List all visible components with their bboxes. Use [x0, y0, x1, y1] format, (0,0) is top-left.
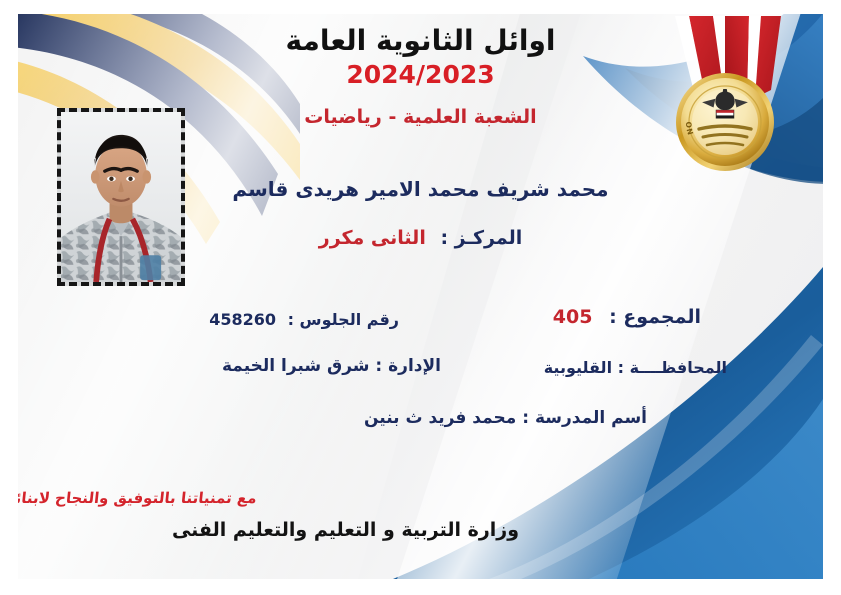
school-label: أسم المدرسة : [522, 408, 647, 428]
school-value: محمد فريد ث بنين [364, 408, 516, 428]
seat-number-row: رقم الجلوس : 458260 [209, 310, 399, 329]
governorate-row: المحافظــــة : القليوبية [544, 358, 727, 377]
ministry-name: وزارة التربية و التعليم والتعليم الفنى [18, 519, 823, 541]
page-title: اوائل الثانوية العامة [18, 24, 823, 57]
certificate-root: MINISTRY OF EDUCATION AND TECHNICAL EDUC… [0, 0, 841, 595]
seat-number-label: رقم الجلوس : [288, 310, 399, 329]
rank-value: الثانى مكرر [319, 227, 426, 249]
student-name: محمد شريف محمد الامير هريدى قاسم [18, 177, 823, 201]
branch-label: الشعبة العلمية - رياضيات [18, 106, 823, 128]
total-value: 405 [553, 306, 593, 328]
administration-label: الإدارة : [375, 356, 441, 376]
rank-row: المركـز : الثانى مكرر [18, 227, 823, 249]
governorate-label: المحافظــــة : [618, 358, 727, 377]
seat-number-value: 458260 [209, 310, 276, 329]
certificate-card: MINISTRY OF EDUCATION AND TECHNICAL EDUC… [18, 14, 823, 579]
administration-row: الإدارة : شرق شبرا الخيمة [222, 356, 441, 376]
rank-label: المركـز : [440, 227, 522, 249]
school-row: أسم المدرسة : محمد فريد ث بنين [364, 408, 647, 428]
administration-value: شرق شبرا الخيمة [222, 356, 370, 376]
governorate-value: القليوبية [544, 358, 612, 377]
wish-text: مع تمنياتنا بالتوفيق والنجاح لابنائنا [18, 489, 258, 507]
academic-year: 2024/2023 [18, 60, 823, 89]
total-row: المجموع : 405 [553, 306, 701, 328]
total-label: المجموع : [609, 306, 701, 328]
